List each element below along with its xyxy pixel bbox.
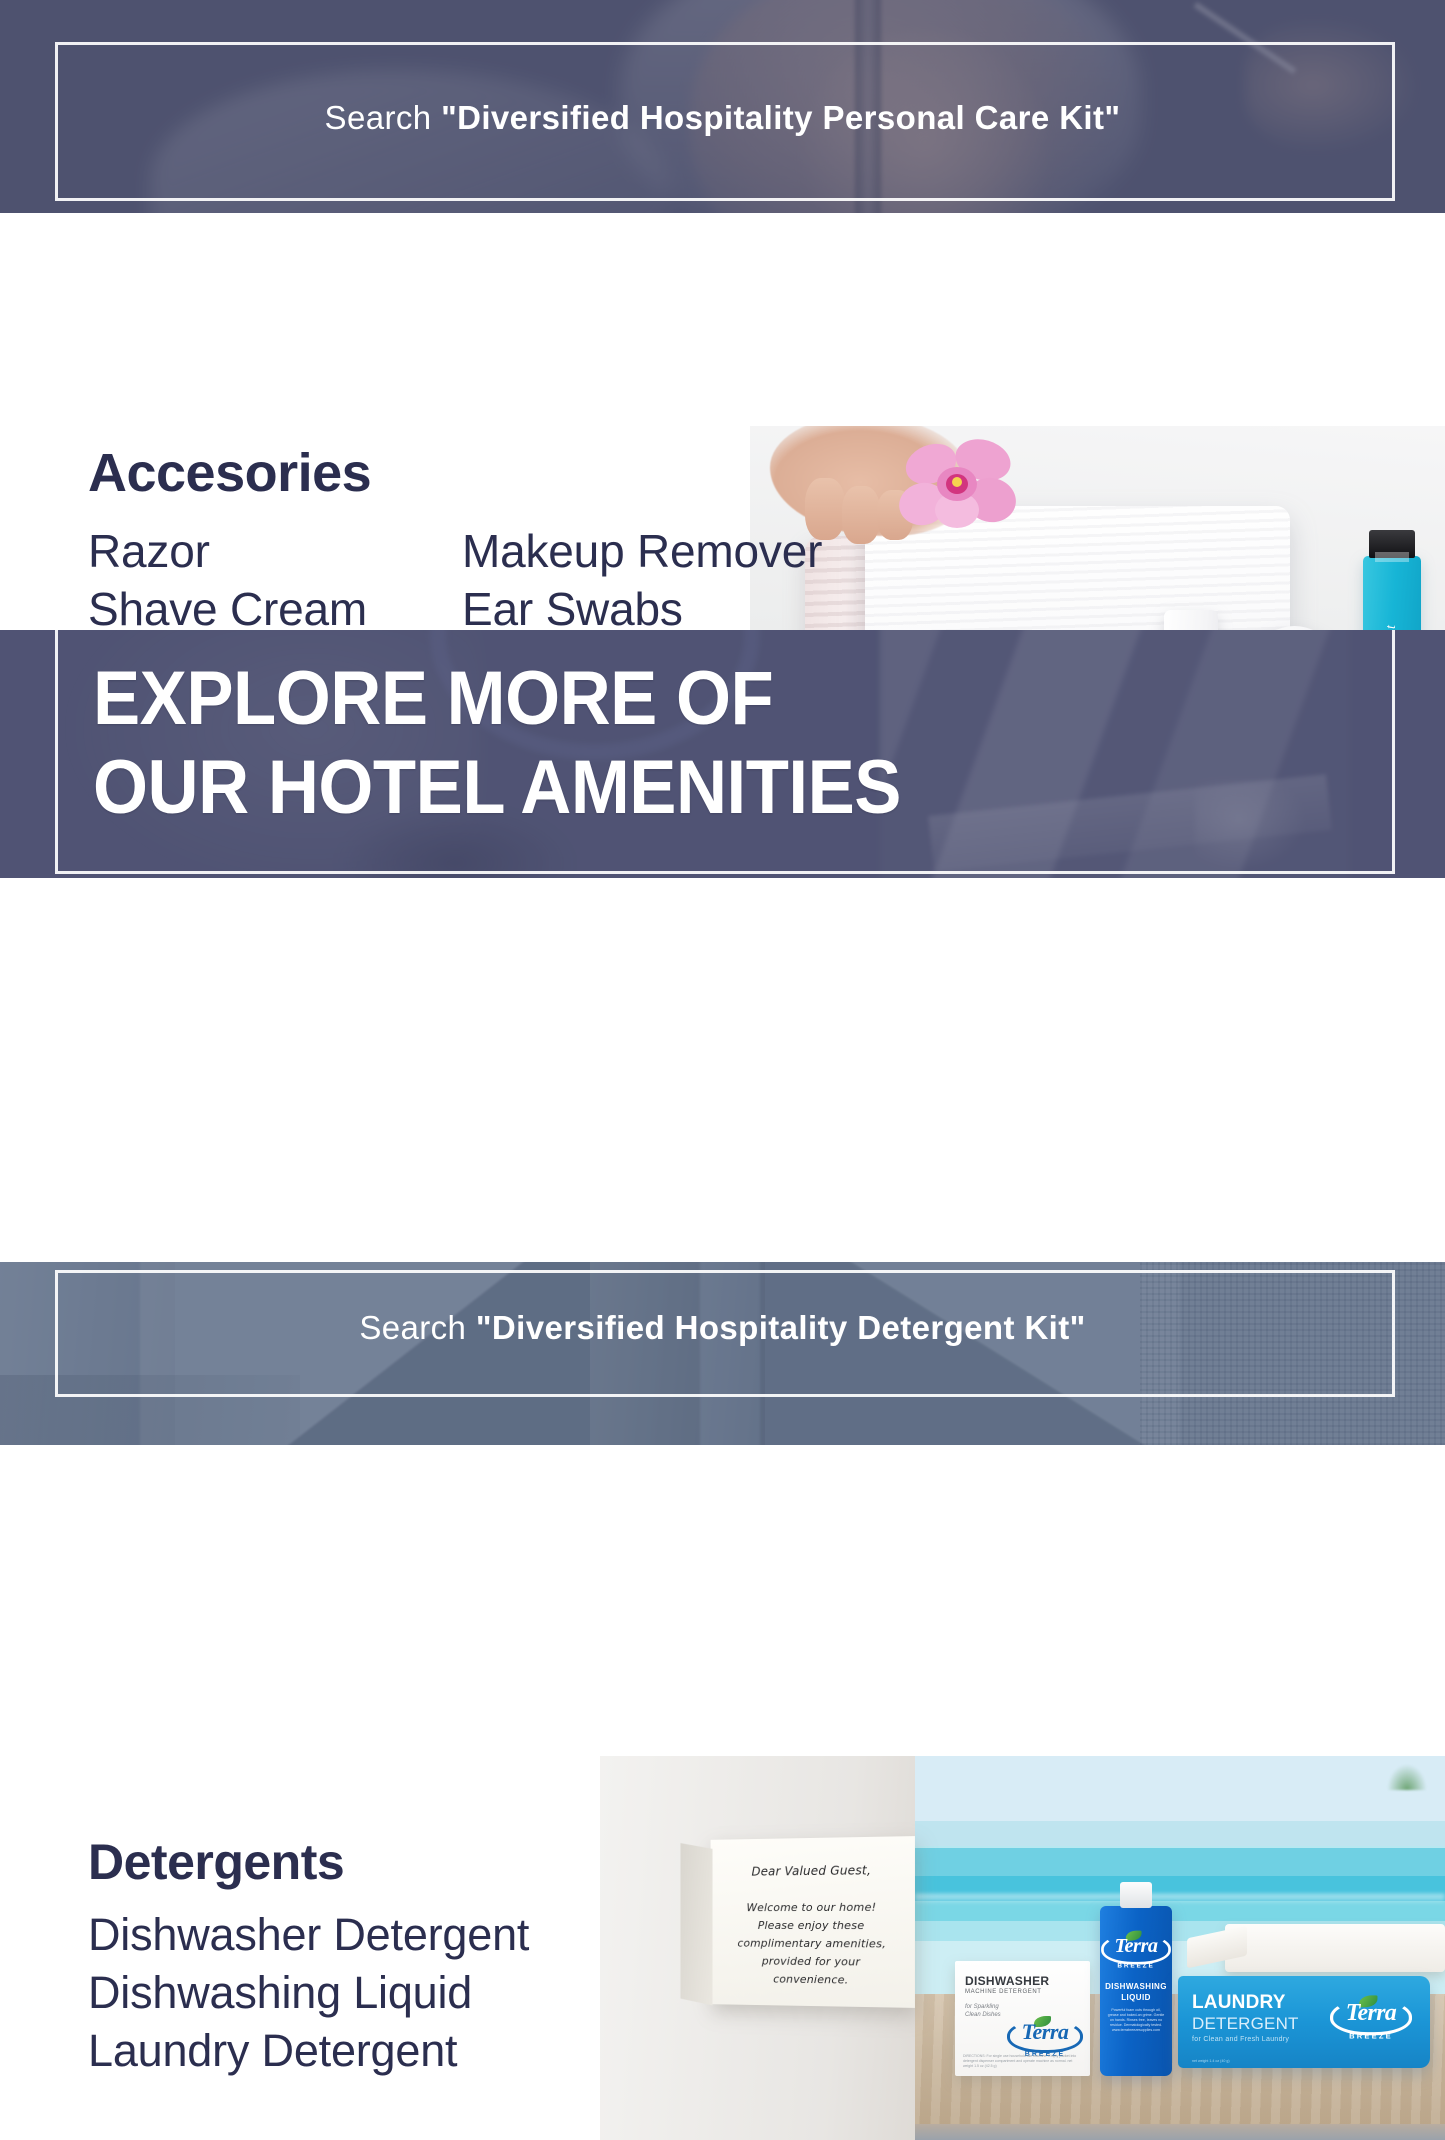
laundry-tagline: for Clean and Fresh Laundry [1192,2036,1289,2043]
card-line-3: complimentary amenities, [711,1936,915,1952]
dishwasher-subtitle: MACHINE DETERGENT [965,1989,1042,1995]
terra-wordmark: Terra [1330,1999,1412,2027]
bottom-search-lead: Search [359,1309,476,1346]
list-item: Razor [88,522,367,580]
liquid-fine-print: Powerful foam cuts through oil, grease a… [1106,2008,1166,2033]
finger-2 [842,486,880,544]
terra-wordmark: Terra [1101,1933,1171,1957]
mid-banner-line-2: OUR HOTEL AMENITIES [93,743,901,832]
detergents-list: Dishwasher Detergent Dishwashing Liquid … [88,1906,529,2080]
liquid-line-2: LIQUID [1100,1993,1172,2002]
dishwasher-fine-print: DIRECTIONS: For single use household use… [963,2054,1083,2069]
list-item: Dishwashing Liquid [88,1964,529,2022]
terra-tagline: BREEZE [1330,2033,1412,2041]
top-search-phrase: "Diversified Hospitality Personal Care K… [441,99,1120,136]
terra-wordmark: Terra [1007,2019,1083,2045]
bottom-search-banner: Search "Diversified Hospitality Detergen… [0,1262,1445,1445]
laundry-detergent-packet: LAUNDRY DETERGENT for Clean and Fresh La… [1178,1976,1430,2068]
orchid-flower-icon [897,438,1022,538]
list-item: Makeup Remover [462,522,822,580]
beach-lounger [1225,1924,1445,1972]
top-search-lead: Search [325,99,442,136]
card-greeting: Dear Valued Guest, [711,1863,915,1880]
card-line-1: Welcome to our home! [711,1899,915,1915]
detergents-section: Dear Valued Guest, Welcome to our home! … [0,878,1445,1262]
laundry-line-1: LAUNDRY [1192,1992,1286,2014]
list-item: Laundry Detergent [88,2022,529,2080]
dishwasher-detergent-packet: DISHWASHER MACHINE DETERGENT for Sparkli… [955,1961,1090,2076]
welcome-guest-card: Dear Valued Guest, Welcome to our home! … [711,1836,915,2008]
photo-floor [915,2124,1445,2140]
terra-tagline: BREEZE [1101,1963,1171,1969]
detergents-heading: Detergents [88,1833,344,1891]
dishwasher-tagline-1: for Sparkling [965,2003,999,2011]
top-banner-text: Search "Diversified Hospitality Personal… [0,99,1445,137]
dishwasher-tagline-2: Clean Dishes [965,2011,1001,2019]
mid-banner-headline: EXPLORE MORE OF OUR HOTEL AMENITIES [93,654,901,832]
top-search-banner: Search "Diversified Hospitality Personal… [0,0,1445,213]
card-line-2: Please enjoy these [711,1918,915,1933]
list-item: Dishwasher Detergent [88,1906,529,1964]
laundry-fine-print: net weight 1.4 oz (40 g) [1192,2059,1230,2063]
bottle-neck [1375,552,1409,562]
bottom-banner-text: Search "Diversified Hospitality Detergen… [0,1309,1445,1347]
card-line-4: provided for your [711,1953,915,1970]
palm-leaf-shape [1387,1764,1427,1790]
liquid-bottle-cap [1120,1882,1152,1908]
laundry-line-2: DETERGENT [1192,2014,1299,2034]
card-line-5: convenience. [711,1971,915,1989]
dishwasher-title: DISHWASHER [965,1974,1049,1988]
terra-breeze-logo: Terra BREEZE [1101,1928,1171,1970]
bottom-banner-tint [0,1262,1445,1445]
terra-breeze-logo: Terra BREEZE [1007,2013,1083,2059]
marketing-infographic: Search "Diversified Hospitality Personal… [0,0,1445,1445]
ocean-foam [915,1894,1445,1904]
card-spine [680,1843,712,2005]
explore-more-banner: EXPLORE MORE OF OUR HOTEL AMENITIES [0,630,1445,878]
mid-banner-line-1: EXPLORE MORE OF [93,654,901,743]
dishwashing-liquid-bottle: Terra BREEZE DISHWASHING LIQUID Powerful… [1100,1906,1172,2076]
accessories-section: Make-up Remover Demaquillant Doux SOOTHI… [0,213,1445,630]
bottom-search-phrase: "Diversified Hospitality Detergent Kit" [476,1309,1086,1346]
liquid-line-1: DISHWASHING [1100,1982,1172,1991]
accessories-heading: Accesories [88,442,371,504]
ocean-horizon-line [915,1846,1445,1848]
terra-breeze-logo: Terra BREEZE [1330,1992,1412,2042]
detergent-kit-photo: Dear Valued Guest, Welcome to our home! … [600,1756,1445,2140]
